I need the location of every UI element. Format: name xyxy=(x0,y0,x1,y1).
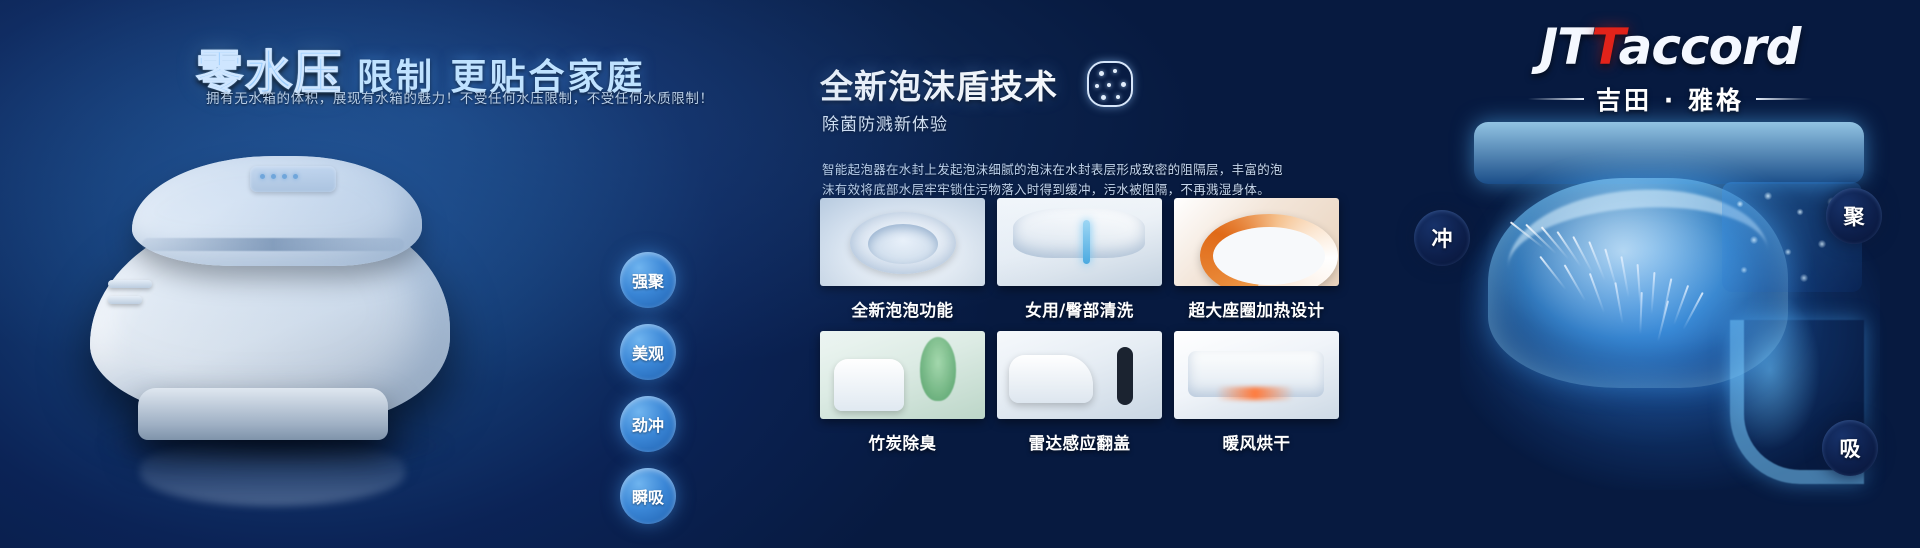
indicator-dots-icon xyxy=(260,174,298,179)
brand-logo-chinese-row: 吉田 · 雅格 xyxy=(1490,81,1850,117)
feature-card[interactable]: 超大座圈加热设计 xyxy=(1174,198,1339,321)
badge-label: 聚 xyxy=(1844,201,1865,231)
pill-qiangju[interactable]: 强聚 xyxy=(620,252,676,308)
feature-card[interactable]: 暖风烘干 xyxy=(1174,331,1339,454)
toilet-base xyxy=(138,388,388,440)
feature-card[interactable]: 竹炭除臭 xyxy=(820,331,985,454)
pill-label: 美观 xyxy=(632,340,664,364)
toilet-reflection xyxy=(140,442,405,506)
toilet-side-button-2 xyxy=(108,296,142,304)
pill-label: 瞬吸 xyxy=(632,484,664,508)
feature-card-caption: 超大座圈加热设计 xyxy=(1174,297,1339,321)
feature-card-caption: 暖风烘干 xyxy=(1174,430,1339,454)
badge-label: 吸 xyxy=(1840,433,1861,463)
center-body-text: 智能起泡器在水封上发起泡沫细腻的泡沫在水封表层形成致密的阻隔层，丰富的泡沫有效将… xyxy=(822,160,1292,201)
bamboo-charcoal-deodorize-photo xyxy=(820,331,985,419)
feature-card-caption: 全新泡泡功能 xyxy=(820,297,985,321)
brand-logo-wordmark: JTTaccord xyxy=(1490,22,1850,72)
pill-meiguan[interactable]: 美观 xyxy=(620,324,676,380)
brand-logo-chinese: 吉田 · 雅格 xyxy=(1596,81,1744,117)
feature-pill-list: 强聚 美观 劲冲 瞬吸 xyxy=(620,252,676,524)
right-panel: JTTaccord 吉田 · 雅格 xyxy=(1420,0,1920,548)
feature-card-caption: 雷达感应翻盖 xyxy=(997,430,1162,454)
radar-auto-lid-photo xyxy=(997,331,1162,419)
feature-card[interactable]: 女用/臀部清洗 xyxy=(997,198,1162,321)
badge-label: 冲 xyxy=(1432,223,1453,253)
brand-logo: JTTaccord 吉田 · 雅格 xyxy=(1490,22,1850,117)
center-heading-row: 全新泡沫盾技术 xyxy=(820,58,1136,110)
xray-tank-top xyxy=(1474,122,1864,184)
pill-label: 强聚 xyxy=(632,268,664,292)
badge-ju[interactable]: 聚 xyxy=(1826,188,1882,244)
foam-shield-bubbles-icon xyxy=(1084,58,1136,110)
toilet-side-button-1 xyxy=(108,280,152,288)
feature-card[interactable]: 雷达感应翻盖 xyxy=(997,331,1162,454)
feature-card-caption: 竹炭除臭 xyxy=(820,430,985,454)
toilet-control-panel xyxy=(250,166,336,192)
logo-rule-right xyxy=(1756,98,1812,100)
logo-rule-left xyxy=(1528,98,1584,100)
left-panel: 零水压 限制 更贴合家庭 拥有无水箱的体积，展现有水箱的魅力！不受任何水压限制，… xyxy=(0,0,640,548)
product-banner: 零水压 限制 更贴合家庭 拥有无水箱的体积，展现有水箱的魅力！不受任何水压限制，… xyxy=(0,0,1920,548)
toilet-seam xyxy=(142,238,404,251)
feature-card-caption: 女用/臀部清洗 xyxy=(997,297,1162,321)
headline-subline: 拥有无水箱的体积，展现有水箱的魅力！不受任何水压限制，不受任何水质限制！ xyxy=(206,87,714,107)
toilet-xray-cutaway-photo: 冲 聚 吸 xyxy=(1430,120,1910,540)
brand-logo-accord: accord xyxy=(1619,18,1801,76)
center-panel: 全新泡沫盾技术 除菌防溅新体验 智能起泡器在水封上发起泡沫细腻的泡沫在水封表层形… xyxy=(820,0,1420,548)
pill-label: 劲冲 xyxy=(632,412,664,436)
brand-logo-jt: JT xyxy=(1540,18,1592,76)
badge-xi[interactable]: 吸 xyxy=(1822,420,1878,476)
smart-toilet-photo xyxy=(80,130,480,460)
center-subtitle: 除菌防溅新体验 xyxy=(822,110,948,135)
heated-seat-ring-photo xyxy=(1174,198,1339,286)
toilet-bowl-foam-photo xyxy=(820,198,985,286)
pill-jingchong[interactable]: 劲冲 xyxy=(620,396,676,452)
center-title: 全新泡沫盾技术 xyxy=(820,60,1058,108)
washing-nozzle-photo xyxy=(997,198,1162,286)
brand-logo-t-accent: T xyxy=(1591,18,1618,76)
feature-card-grid: 全新泡泡功能 女用/臀部清洗 超大座圈加热设计 竹炭除臭 雷达感应翻盖 暖风烘干 xyxy=(820,198,1339,454)
feature-card[interactable]: 全新泡泡功能 xyxy=(820,198,985,321)
badge-chong[interactable]: 冲 xyxy=(1414,210,1470,266)
pill-shunxi[interactable]: 瞬吸 xyxy=(620,468,676,524)
warm-air-dryer-photo xyxy=(1174,331,1339,419)
